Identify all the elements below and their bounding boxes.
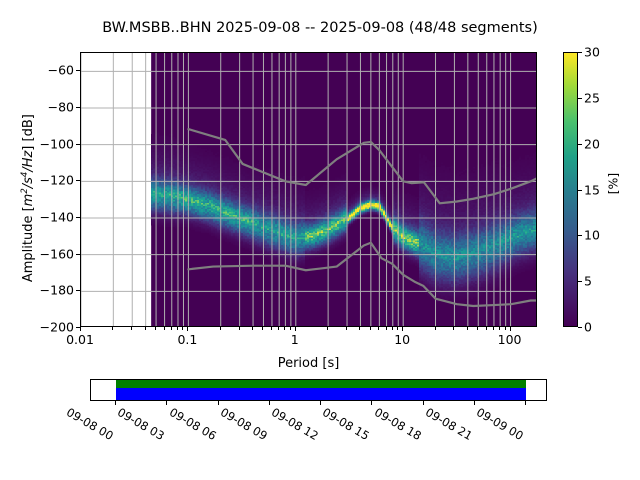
y-axis-unit-exp4: 4 bbox=[20, 172, 30, 177]
timeline-tick-label: 09-08 09 bbox=[218, 405, 270, 443]
x-minor-tick-mark bbox=[467, 327, 468, 330]
colorbar[interactable] bbox=[563, 52, 578, 327]
x-minor-tick-mark bbox=[262, 327, 263, 330]
colorbar-tick-label: 25 bbox=[584, 90, 600, 105]
x-minor-tick-mark bbox=[453, 327, 454, 330]
timeline-tick-label: 09-09 00 bbox=[474, 405, 526, 443]
colorbar-tick-mark bbox=[578, 190, 582, 191]
timeline-tick-mark bbox=[166, 401, 167, 405]
timeline-tick-label: 09-08 15 bbox=[320, 405, 372, 443]
x-tick-mark bbox=[187, 327, 188, 331]
y-tick-label: −140 bbox=[4, 210, 74, 225]
x-tick-mark bbox=[402, 327, 403, 331]
y-tick-label: −160 bbox=[4, 246, 74, 261]
x-minor-tick-mark bbox=[271, 327, 272, 330]
x-axis-label: Period [s] bbox=[80, 356, 537, 371]
timeline-tick-mark bbox=[371, 401, 372, 405]
x-minor-tick-mark bbox=[486, 327, 487, 330]
x-tick-label: 10 bbox=[394, 332, 410, 347]
y-tick-label: −120 bbox=[4, 173, 74, 188]
y-tick-label: −100 bbox=[4, 136, 74, 151]
y-tick-label: −180 bbox=[4, 283, 74, 298]
x-minor-tick-mark bbox=[346, 327, 347, 330]
timeline-tick-label: 09-08 03 bbox=[115, 405, 167, 443]
x-tick-mark bbox=[80, 327, 81, 331]
y-tick-label: −200 bbox=[4, 320, 74, 335]
x-minor-tick-mark bbox=[182, 327, 183, 330]
y-axis-unit-exp2: 2 bbox=[20, 188, 30, 193]
colorbar-tick-label: 10 bbox=[584, 228, 600, 243]
x-tick-label: 1 bbox=[291, 332, 299, 347]
timeline-tick-mark bbox=[423, 401, 424, 405]
x-tick-label: 0.1 bbox=[177, 332, 197, 347]
x-tick-label: 100 bbox=[498, 332, 522, 347]
x-minor-tick-mark bbox=[145, 327, 146, 330]
x-minor-tick-mark bbox=[220, 327, 221, 330]
colorbar-tick-label: 15 bbox=[584, 182, 600, 197]
x-minor-tick-mark bbox=[284, 327, 285, 330]
timeline-data-bar bbox=[116, 380, 526, 388]
x-tick-mark bbox=[510, 327, 511, 331]
colorbar-tick-label: 20 bbox=[584, 136, 600, 151]
y-axis-ticks: −60−80−100−120−140−160−180−200 bbox=[0, 0, 74, 480]
timeline-tick-label: 09-08 12 bbox=[269, 405, 321, 443]
x-tick-mark bbox=[295, 327, 296, 331]
x-minor-tick-mark bbox=[131, 327, 132, 330]
x-minor-tick-mark bbox=[112, 327, 113, 330]
y-tick-label: −80 bbox=[4, 100, 74, 115]
x-minor-tick-mark bbox=[155, 327, 156, 330]
x-minor-tick-mark bbox=[164, 327, 165, 330]
colorbar-tick-label: 30 bbox=[584, 45, 600, 60]
timeline-axes[interactable] bbox=[90, 379, 547, 401]
y-axis-label: Amplitude [m2/s4/Hz] [dB] bbox=[20, 78, 36, 318]
colorbar-tick-mark bbox=[578, 144, 582, 145]
timeline-tick-mark bbox=[474, 401, 475, 405]
y-axis-label-prefix: Amplitude [ bbox=[21, 206, 36, 282]
x-minor-tick-mark bbox=[278, 327, 279, 330]
y-tick-label: −60 bbox=[4, 63, 74, 78]
x-minor-tick-mark bbox=[499, 327, 500, 330]
x-minor-tick-mark bbox=[477, 327, 478, 330]
timeline-tick-label: 09-08 18 bbox=[372, 405, 424, 443]
plot-title: BW.MSBB..BHN 2025-09-08 -- 2025-09-08 (4… bbox=[0, 20, 640, 36]
timeline-tick-label: 09-08 21 bbox=[423, 405, 475, 443]
colorbar-tick-label: 0 bbox=[584, 320, 592, 335]
timeline-tick-mark bbox=[525, 401, 526, 405]
x-minor-tick-mark bbox=[327, 327, 328, 330]
y-axis-unit-m: m bbox=[21, 194, 36, 207]
timeline-tick-label: 09-08 06 bbox=[167, 405, 219, 443]
colorbar-tick-mark bbox=[578, 327, 582, 328]
x-minor-tick-mark bbox=[435, 327, 436, 330]
colorbar-tick-label: 5 bbox=[584, 274, 592, 289]
x-minor-tick-mark bbox=[177, 327, 178, 330]
x-minor-tick-mark bbox=[290, 327, 291, 330]
ppsd-density-heatmap bbox=[81, 53, 537, 327]
colorbar-tick-mark bbox=[578, 281, 582, 282]
colorbar-tick-mark bbox=[578, 235, 582, 236]
y-axis-label-suffix: ] [dB] bbox=[21, 114, 36, 151]
x-minor-tick-mark bbox=[252, 327, 253, 330]
y-axis-unit-s: /s bbox=[21, 177, 36, 188]
x-minor-tick-mark bbox=[392, 327, 393, 330]
colorbar-label: [%] bbox=[606, 154, 621, 214]
x-minor-tick-mark bbox=[505, 327, 506, 330]
x-minor-tick-mark bbox=[397, 327, 398, 330]
x-minor-tick-mark bbox=[386, 327, 387, 330]
x-tick-label: 0.01 bbox=[66, 332, 94, 347]
timeline-tick-mark bbox=[115, 401, 116, 405]
ppsd-figure: BW.MSBB..BHN 2025-09-08 -- 2025-09-08 (4… bbox=[0, 0, 640, 480]
timeline-coverage-bar bbox=[116, 388, 526, 400]
ppsd-axes[interactable] bbox=[80, 52, 537, 327]
y-axis-unit-hz: /Hz bbox=[21, 151, 36, 172]
colorbar-tick-mark bbox=[578, 52, 582, 53]
timeline-tick-mark bbox=[218, 401, 219, 405]
x-minor-tick-mark bbox=[239, 327, 240, 330]
x-minor-tick-mark bbox=[370, 327, 371, 330]
x-minor-tick-mark bbox=[493, 327, 494, 330]
timeline-tick-mark bbox=[320, 401, 321, 405]
colorbar-tick-mark bbox=[578, 98, 582, 99]
x-minor-tick-mark bbox=[359, 327, 360, 330]
timeline-tick-mark bbox=[269, 401, 270, 405]
x-minor-tick-mark bbox=[378, 327, 379, 330]
x-minor-tick-mark bbox=[171, 327, 172, 330]
